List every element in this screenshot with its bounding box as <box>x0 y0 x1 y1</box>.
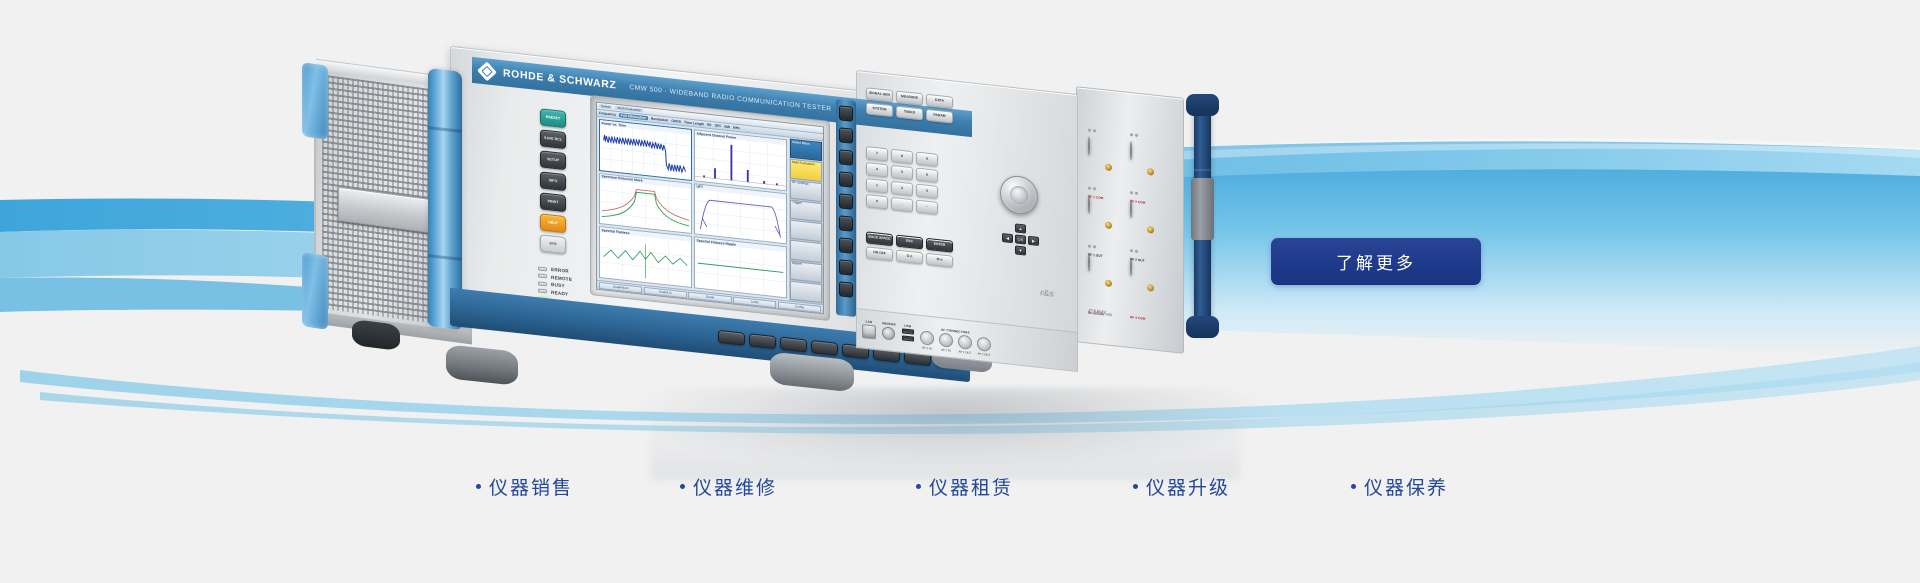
product-photo-cmw500: ROHDE & SCHWARZ CMW 500 · WIDEBAND RADIO… <box>300 58 1140 398</box>
n-type-connector-icon <box>1088 195 1090 214</box>
n-type-connector-icon <box>1130 199 1132 218</box>
bnc-connector-icon <box>939 332 953 348</box>
display-bottom-button[interactable]: Config <box>778 301 821 313</box>
save-rcl-key[interactable]: SAVE RCL <box>540 129 566 149</box>
service-list: 仪器销售 仪器维修 仪器租赁 仪器升级 仪器保养 <box>0 466 1920 506</box>
service-label: 仪器租赁 <box>929 473 1013 500</box>
arrow-left-icon[interactable]: ◀ <box>1002 233 1013 243</box>
titlebar-chip: Select <box>599 104 612 109</box>
fn-key-param[interactable]: PARAM <box>926 109 953 124</box>
menu-item[interactable]: Resolution <box>651 117 669 123</box>
num-key-9[interactable]: 9 <box>916 152 938 167</box>
navigation-arrow-pad: ▲ ◀ OK ▶ ▼ <box>1002 222 1039 257</box>
softkey-blank-1[interactable] <box>790 220 822 243</box>
arrow-pad-spacer <box>1028 225 1039 235</box>
preset-key[interactable]: PRESET <box>540 108 566 128</box>
side-softkey[interactable] <box>839 149 853 166</box>
unit-key-gn[interactable]: G n <box>896 250 923 265</box>
info-key[interactable]: INFO <box>540 171 566 191</box>
lan-port[interactable]: LAN <box>862 319 876 340</box>
n-type-connector-icon <box>1088 137 1090 156</box>
panel-spectrum-emission-mask[interactable]: Spectrum Emission Mask <box>599 173 692 235</box>
service-item-repair[interactable]: 仪器维修 <box>680 473 777 500</box>
side-softkey[interactable] <box>839 171 853 188</box>
service-item-sales[interactable]: 仪器销售 <box>476 473 573 500</box>
menu-item[interactable]: MHz <box>733 126 740 131</box>
led-icon <box>538 288 547 293</box>
bnc-connector-icon <box>958 334 972 350</box>
status-led-label: READY <box>551 289 568 296</box>
panel-spectral-flatness-ripple[interactable]: Spectral Flatness Ripple <box>694 237 787 299</box>
lan-label: LAN <box>866 319 873 324</box>
num-key-minus[interactable]: - <box>916 200 938 215</box>
softkey-trigger[interactable]: Trigger <box>790 199 822 222</box>
enter-key[interactable]: ENTER <box>926 238 953 253</box>
n-type-connector-icon <box>1130 141 1132 160</box>
instrument-foot-front-left <box>446 344 518 386</box>
side-softkey[interactable] <box>839 215 853 232</box>
panel-uft[interactable]: UFT <box>694 183 787 245</box>
handle-top-mount <box>1186 94 1219 116</box>
softkey-blank-2[interactable] <box>790 240 822 263</box>
num-key-1[interactable]: 1 <box>866 178 888 193</box>
bullet-icon <box>1133 484 1138 489</box>
esc-key[interactable]: ESC <box>896 235 923 250</box>
af-connector-1-in[interactable]: AF 1 IN <box>920 330 934 350</box>
learn-more-button[interactable]: 了解更多 <box>1271 238 1481 285</box>
side-softkey[interactable] <box>839 237 853 254</box>
hard-key-column: PRESET SAVE RCL SETUP INFO PRINT HELP SY… <box>540 108 570 258</box>
side-softkey[interactable] <box>839 105 853 122</box>
fn-key-tasks[interactable]: TASKS <box>896 106 923 121</box>
usb-port-icon <box>902 335 914 341</box>
side-softkey[interactable] <box>839 281 853 298</box>
fn-key-measure[interactable]: MEASURE <box>896 91 923 106</box>
bullet-icon <box>680 484 685 489</box>
bottom-softkey[interactable] <box>718 329 745 345</box>
bnc-connector-icon <box>920 330 934 346</box>
bullet-icon <box>1351 484 1356 489</box>
instrument-display[interactable]: Select Multi Evaluation Frequency Full A… <box>596 102 824 315</box>
help-key[interactable]: HELP <box>540 213 566 233</box>
softkey-blank-3[interactable] <box>790 280 822 303</box>
af-connector-2-in[interactable]: AF 2 IN <box>939 332 953 352</box>
vendor-wordmark: r&s <box>1040 287 1054 298</box>
plot-area <box>695 189 786 244</box>
status-led-label: ERROR <box>551 267 569 274</box>
service-label: 仪器升级 <box>1146 473 1230 500</box>
service-item-upgrade[interactable]: 仪器升级 <box>1133 473 1230 500</box>
print-key[interactable]: PRINT <box>540 192 566 212</box>
side-softkey[interactable] <box>839 259 853 276</box>
led-icon <box>538 281 547 286</box>
display-bezel: Select Multi Evaluation Frequency Full A… <box>590 95 830 321</box>
n-type-connector-icon <box>1130 257 1132 276</box>
num-key-0[interactable]: 0 <box>866 194 888 209</box>
plot-area <box>695 135 786 190</box>
num-key-decimal[interactable]: . <box>891 197 913 212</box>
display-bottom-button[interactable]: Scale/Lvl <box>644 286 687 298</box>
rotary-knob[interactable] <box>1000 174 1038 216</box>
panel-adjacent-channel-power[interactable]: Adjacent Channel Power <box>694 129 787 191</box>
arrow-right-icon[interactable]: ▶ <box>1028 236 1039 246</box>
arrow-pad-spacer <box>1002 244 1013 254</box>
sensor-port[interactable]: SENSOR <box>882 321 896 341</box>
plot-area <box>695 243 786 298</box>
corner-bumper-bottom-left <box>302 252 328 330</box>
af-connector-2-out[interactable]: AF 2 OUT <box>977 336 991 356</box>
display-bottom-button[interactable]: Limits <box>733 296 776 308</box>
softkey-rf-settings[interactable]: RF Settings <box>790 179 822 202</box>
display-bottom-button[interactable]: Detail <box>688 291 731 303</box>
menu-item[interactable]: OFF <box>715 124 722 129</box>
usb-ports[interactable]: USB <box>902 323 914 341</box>
backspace-key[interactable]: BACK SPACE <box>866 231 893 246</box>
arrow-pad-spacer <box>1002 222 1013 232</box>
unit-key-mu[interactable]: M u <box>926 253 953 268</box>
service-label: 仪器维修 <box>693 473 777 500</box>
bottom-softkey[interactable] <box>780 336 807 352</box>
side-softkey[interactable] <box>839 127 853 144</box>
sys-key[interactable]: SYS <box>540 234 566 254</box>
menu-item[interactable]: Time Length <box>684 120 704 126</box>
status-led-label: REMOTE <box>551 274 572 281</box>
fn-key-system[interactable]: SYSTEM <box>866 102 893 117</box>
service-label: 仪器销售 <box>489 473 573 500</box>
softkey-select-meas[interactable]: Select Meas <box>790 139 822 162</box>
bullet-icon <box>476 484 481 489</box>
menu-item[interactable]: Frequency <box>599 111 616 117</box>
ethernet-jack-icon <box>862 324 876 340</box>
bnc-connector-icon <box>977 336 991 352</box>
setup-key[interactable]: SETUP <box>540 150 566 170</box>
handle-grip <box>1191 178 1214 240</box>
service-item-maintenance[interactable]: 仪器保养 <box>1351 473 1448 500</box>
num-key-7[interactable]: 7 <box>866 146 888 161</box>
num-key-5[interactable]: 5 <box>891 165 913 180</box>
led-icon <box>538 266 547 271</box>
status-led-label: BUSY <box>551 282 565 288</box>
on-off-key[interactable]: ON OFF <box>866 246 893 261</box>
arrow-down-icon[interactable]: ▼ <box>1015 245 1026 255</box>
softkey-marker[interactable]: Marker <box>790 260 822 283</box>
sensor-label: SENSOR <box>882 321 896 327</box>
rf-connector-grid: RF 1 COM RF 2 COM RF 1 OUT RF 2 OUT RF 3 <box>1088 138 1170 317</box>
num-key-6[interactable]: 6 <box>916 168 938 183</box>
arrow-pad-spacer <box>1028 247 1039 257</box>
rohde-schwarz-logo-icon <box>477 62 497 82</box>
num-key-4[interactable]: 4 <box>866 162 888 177</box>
af-connector-1-out[interactable]: AF 1 OUT <box>958 334 972 354</box>
menu-item[interactable]: BW <box>724 125 730 130</box>
bottom-softkey[interactable] <box>811 339 838 355</box>
corner-bumper-top-left <box>302 62 328 140</box>
menu-item[interactable]: RF <box>707 123 712 127</box>
display-side-softkey-strip <box>836 99 856 317</box>
bottom-softkey[interactable] <box>749 333 776 349</box>
num-key-3[interactable]: 3 <box>916 184 938 199</box>
side-softkey[interactable] <box>839 193 853 210</box>
usb-stack <box>902 328 914 341</box>
carry-handle-right <box>1184 98 1222 334</box>
hero-banner: ROHDE & SCHWARZ CMW 500 · WIDEBAND RADIO… <box>0 0 1920 583</box>
fn-key-signal-gen[interactable]: SIGNAL GEN <box>866 87 893 102</box>
rf-connector-5[interactable]: RF 3 COM <box>1088 254 1128 312</box>
usb-label: USB <box>904 324 911 329</box>
service-label: 仪器保养 <box>1364 473 1448 500</box>
chassis-model-mark-number: 500 <box>1106 312 1113 318</box>
softkey-multi-evaluation[interactable]: Multi Evaluation <box>790 159 822 182</box>
bullet-icon <box>916 484 921 489</box>
measurement-panel-grid: Power vs. Time <box>597 117 789 301</box>
service-item-rental[interactable]: 仪器租赁 <box>916 473 1013 500</box>
fn-key-data[interactable]: DATA <box>926 94 953 109</box>
led-icon <box>538 273 547 278</box>
arrow-up-icon[interactable]: ▲ <box>1015 223 1026 233</box>
panel-power-vs-time[interactable]: Power vs. Time <box>599 119 692 181</box>
display-softkey-column: Select Meas Multi Evaluation RF Settings… <box>789 138 823 305</box>
usb-port-icon <box>902 328 914 334</box>
brand-name: ROHDE & SCHWARZ <box>503 67 616 91</box>
menu-item[interactable]: GPRS <box>671 119 681 124</box>
plot-area <box>600 179 691 234</box>
num-key-2[interactable]: 2 <box>891 181 913 196</box>
n-type-connector-icon <box>1088 253 1090 272</box>
numeric-keypad: 7 8 9 4 5 6 1 2 3 0 . - <box>866 146 938 218</box>
display-body: Power vs. Time <box>597 117 823 305</box>
handle-bottom-mount <box>1186 316 1219 338</box>
rf-connector-6[interactable]: RF 4 COM <box>1130 258 1170 316</box>
plot-area <box>600 125 691 180</box>
sensor-connector-icon <box>882 326 895 340</box>
ok-key[interactable]: OK <box>1015 234 1026 244</box>
num-key-8[interactable]: 8 <box>891 149 913 164</box>
